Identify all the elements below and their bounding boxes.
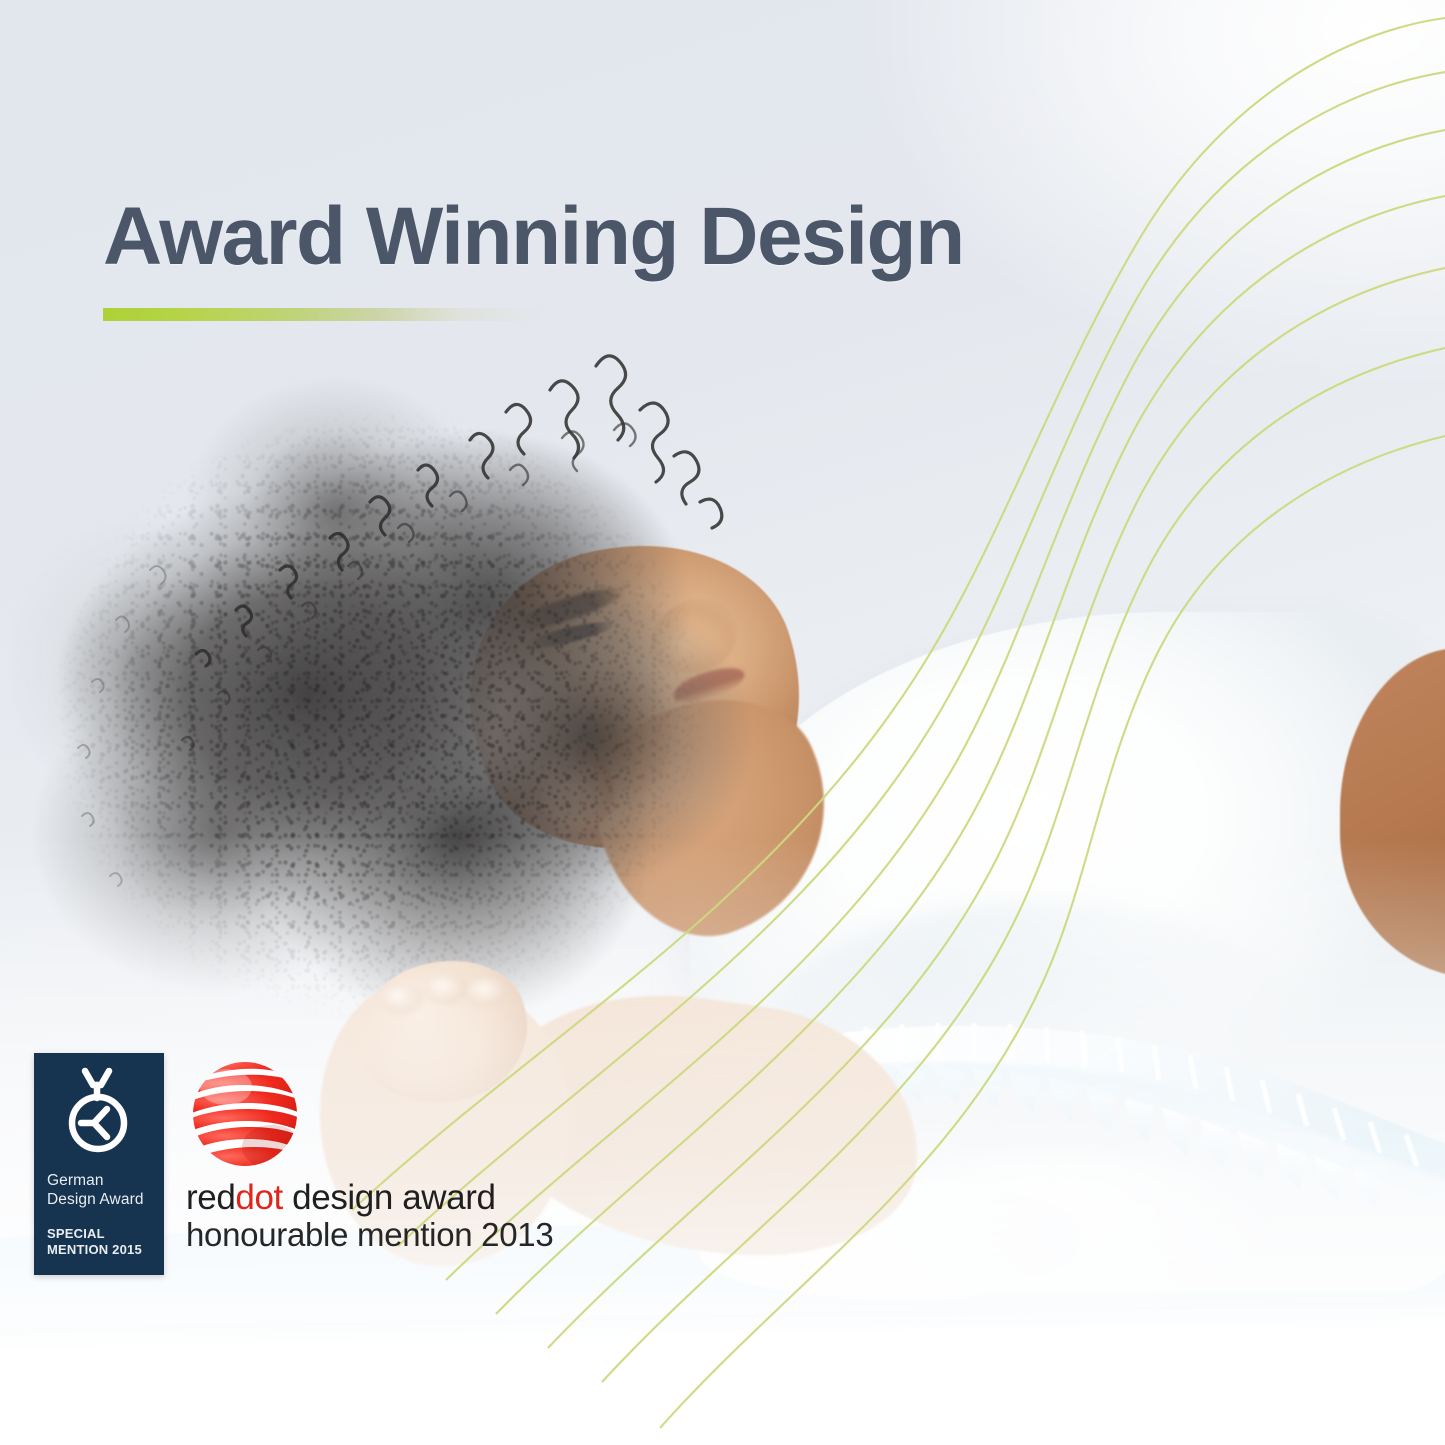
reddot-wordmark: reddot design award honourable mention 2… — [186, 1179, 556, 1254]
page-title: Award Winning Design — [103, 196, 1063, 278]
headline-underline-bar — [103, 308, 548, 321]
german-design-award-name: German Design Award — [47, 1172, 151, 1210]
gda-logo-svg — [57, 1065, 141, 1157]
reddot-dot-word: dot — [235, 1178, 282, 1217]
product-marketing-image: Award Winning Design German Desi — [0, 0, 1445, 1445]
reddot-design-award-badge: reddot design award honourable mention 2… — [186, 1053, 556, 1254]
gda-mention-line-1: SPECIAL — [47, 1226, 151, 1242]
reddot-sphere-icon — [186, 1055, 556, 1173]
headline-block: Award Winning Design — [103, 196, 1063, 321]
gda-name-line-1: German — [47, 1172, 151, 1191]
reddot-sphere-svg — [186, 1055, 304, 1173]
gda-mention-line-2: MENTION 2015 — [47, 1242, 151, 1258]
gda-name-line-2: Design Award — [47, 1191, 151, 1210]
reddot-design-award-words: design award — [283, 1178, 496, 1217]
german-design-award-badge: German Design Award SPECIAL MENTION 2015 — [34, 1053, 164, 1275]
german-design-award-mark-icon — [57, 1065, 141, 1162]
reddot-red-word: red — [186, 1178, 235, 1217]
reddot-line-2: honourable mention 2013 — [186, 1217, 556, 1254]
reddot-line-1: reddot design award — [186, 1179, 556, 1217]
german-design-award-mention: SPECIAL MENTION 2015 — [47, 1226, 151, 1258]
award-badges: German Design Award SPECIAL MENTION 2015 — [34, 1053, 556, 1275]
